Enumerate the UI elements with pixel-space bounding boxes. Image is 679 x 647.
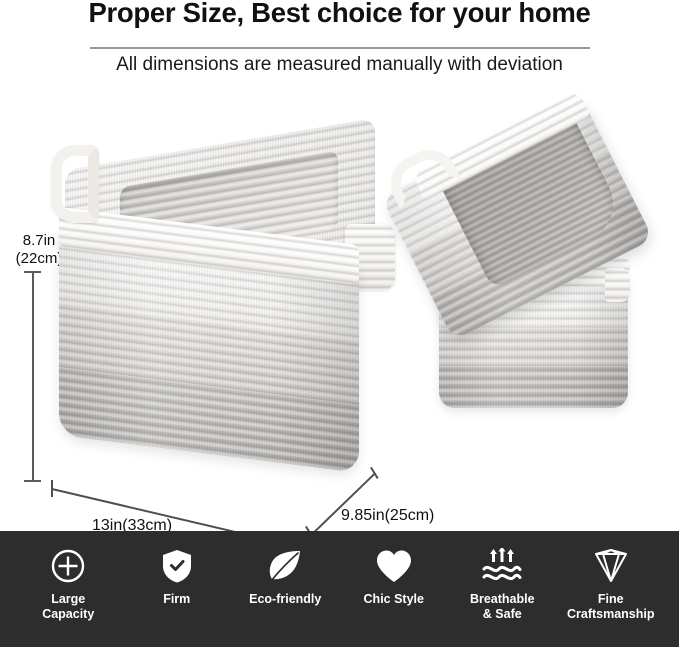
feature-label: Fine Craftsmanship — [567, 592, 655, 621]
feature-fine-craftsmanship: Fine Craftsmanship — [557, 547, 666, 621]
feature-label: Firm — [163, 592, 190, 607]
plus-circle-icon — [50, 547, 86, 585]
feature-eco-friendly: Eco-friendly — [231, 547, 340, 607]
diamond-icon — [592, 547, 630, 585]
feature-firm: Firm — [123, 547, 232, 607]
breathable-waves-icon — [480, 547, 524, 585]
dimension-height-cap-bottom — [24, 480, 41, 482]
dimension-label-depth: 9.85in(25cm) — [341, 507, 434, 525]
leaf-icon — [266, 547, 304, 585]
feature-label: Chic Style — [364, 592, 424, 607]
feature-bar: Large Capacity Firm Eco-friendly — [0, 531, 679, 647]
page-title: Proper Size, Best choice for your home — [0, 0, 679, 29]
dimension-depth-line — [306, 472, 375, 539]
dimension-height-line — [32, 271, 34, 481]
upright-band-dark-gray — [439, 366, 628, 408]
basket-main — [47, 138, 395, 456]
main-basket-handle-left — [51, 145, 99, 223]
feature-label: Eco-friendly — [249, 592, 321, 607]
feature-label: Breathable & Safe — [470, 592, 535, 621]
header-divider — [90, 47, 590, 49]
feature-label: Large Capacity — [42, 592, 94, 621]
product-infographic: Proper Size, Best choice for your home A… — [0, 0, 679, 647]
product-image-stage: 8.7in (22cm) 13in(33cm) 9.85in(25cm) — [0, 88, 679, 531]
feature-breathable-safe: Breathable & Safe — [448, 547, 557, 621]
heart-icon — [375, 547, 413, 585]
feature-chic-style: Chic Style — [340, 547, 449, 607]
shield-check-icon — [161, 547, 193, 585]
feature-large-capacity: Large Capacity — [14, 547, 123, 621]
